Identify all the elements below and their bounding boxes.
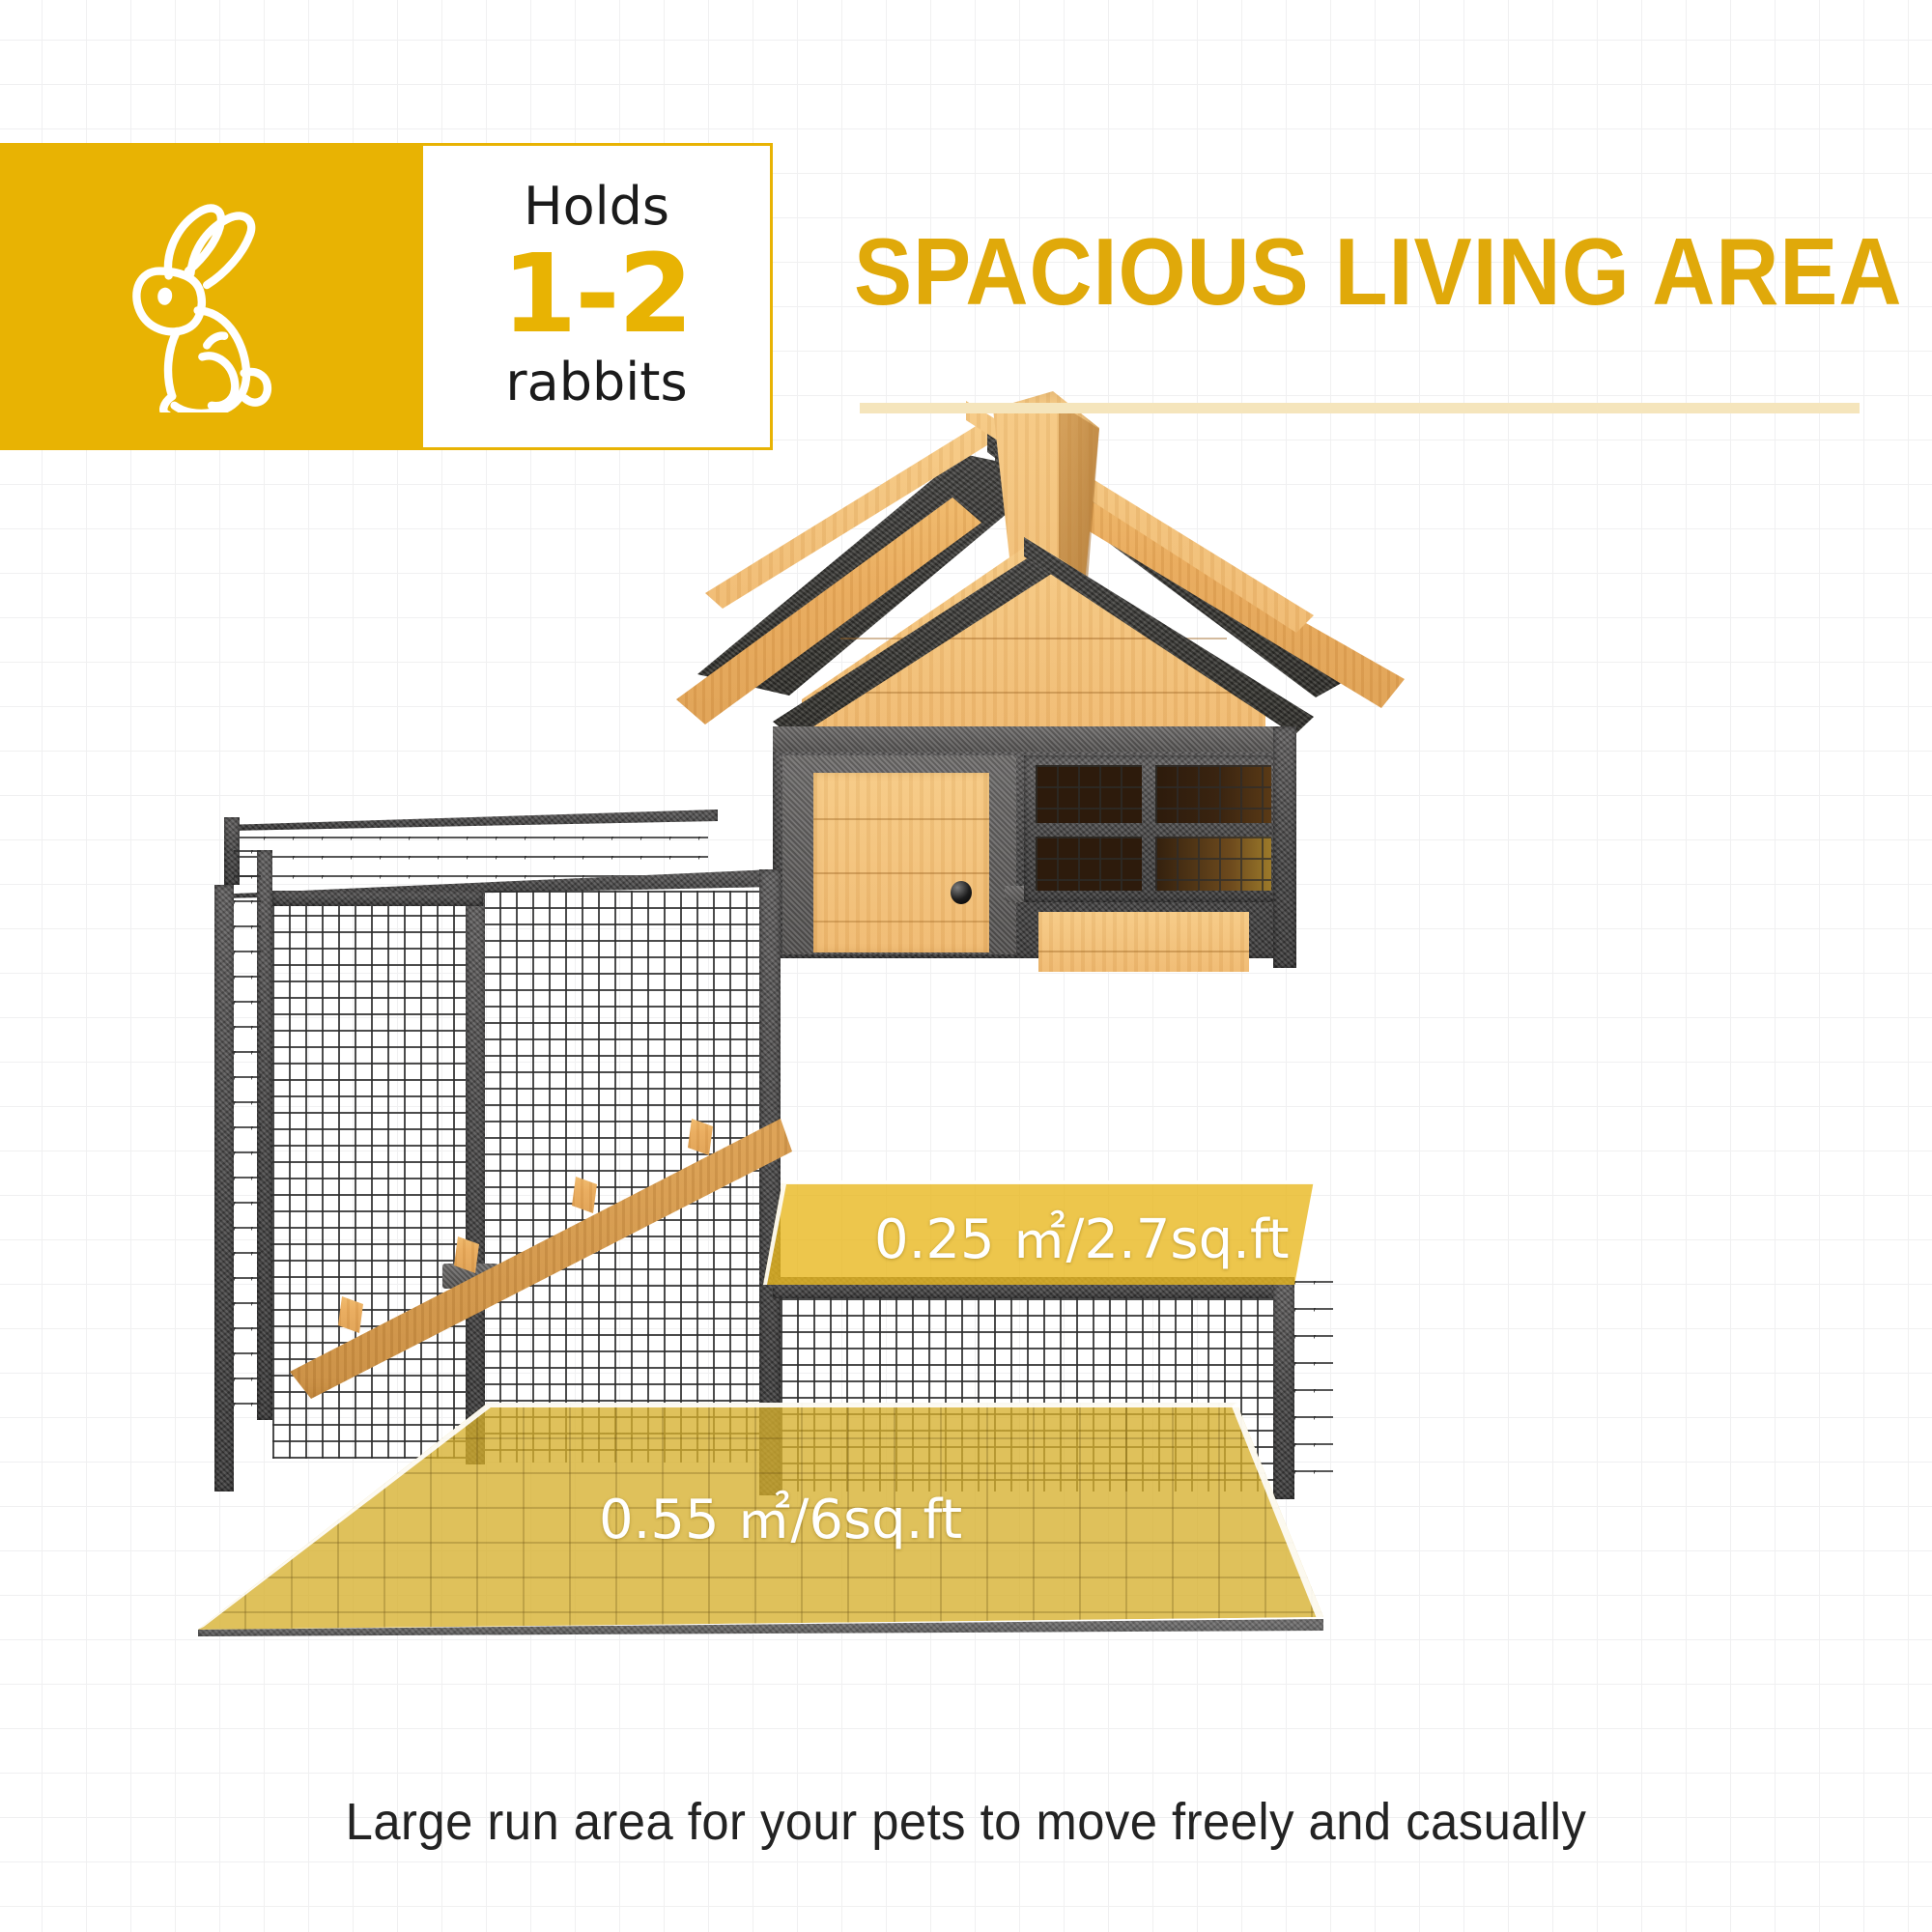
lower-area-label: 0.55 ㎡/6sq.ft — [599, 1476, 962, 1554]
door-knob[interactable] — [951, 881, 972, 904]
badge-unit-label: rabbits — [505, 356, 687, 409]
mesh-window-lower-left-grid — [1036, 837, 1142, 891]
house-door[interactable] — [813, 773, 989, 952]
run-side-mesh-left — [234, 850, 261, 1420]
headline-title: SPACIOUS LIVING AREA — [854, 224, 1832, 319]
run-access-door-top-rail — [272, 891, 483, 906]
gable-plank-seam-2 — [816, 692, 1251, 694]
mesh-window-upper-right-grid — [1155, 765, 1271, 823]
marketing-image-canvas: 0.25 ㎡/2.7sq.ft 0.55 ㎡/6sq.ft — [0, 0, 1932, 1932]
lower-hutch-side-mesh — [1294, 1281, 1333, 1484]
footer-caption: Large run area for your pets to move fre… — [58, 1792, 1874, 1852]
run-post-left-front — [214, 885, 234, 1492]
side-panel-seam — [1038, 951, 1249, 952]
wooden-side-panel — [1038, 912, 1249, 972]
run-post-right — [759, 869, 781, 1495]
badge-text-container: Holds 1-2 rabbits — [423, 143, 773, 450]
door-plank-seam-2 — [813, 872, 989, 874]
house-top-rail — [773, 726, 1294, 752]
rabbit-icon — [96, 181, 327, 412]
badge-capacity-count: 1-2 — [501, 233, 691, 357]
lower-hutch-post-right — [1273, 1277, 1294, 1499]
badge-holds-label: Holds — [524, 181, 669, 233]
capacity-badge: Holds 1-2 rabbits — [0, 143, 773, 450]
upper-area-label: 0.25 ㎡/2.7sq.ft — [874, 1196, 1290, 1274]
mesh-window-upper-left-grid — [1036, 765, 1142, 823]
mesh-window-lower-right-grid — [1155, 837, 1271, 891]
badge-icon-container — [0, 143, 423, 450]
headline-underline-rule — [860, 403, 1860, 413]
house-post-right-upper — [1273, 726, 1296, 968]
door-plank-seam-3 — [813, 921, 989, 923]
run-access-door-frame[interactable] — [466, 891, 485, 1464]
door-plank-seam-1 — [813, 818, 989, 820]
